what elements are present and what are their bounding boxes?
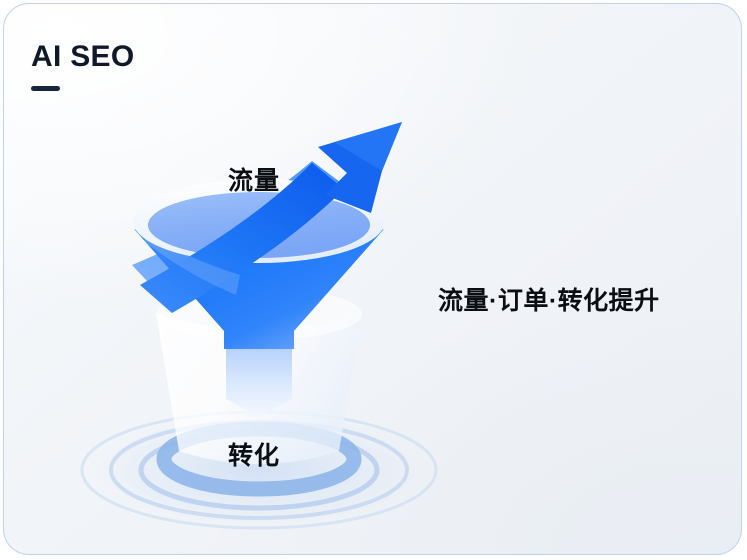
page-title: AI SEO — [31, 42, 135, 72]
funnel-label-conversion: 转化 — [228, 436, 280, 472]
title-underline-accent — [31, 86, 60, 91]
title-block: AI SEO — [31, 42, 135, 91]
tagline-text: 流量·订单·转化提升 — [438, 281, 660, 317]
illustration-card: AI SEO — [3, 3, 742, 555]
funnel-label-traffic: 流量 — [228, 161, 280, 197]
